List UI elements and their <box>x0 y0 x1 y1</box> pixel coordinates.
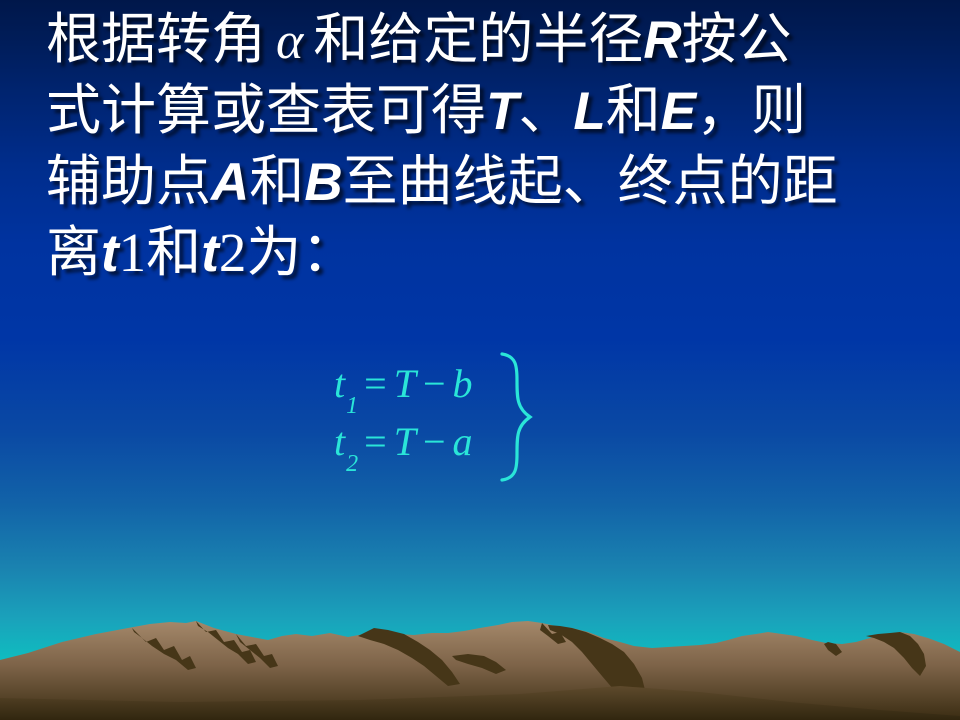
title-line-2-part-d: ，则 <box>696 80 806 141</box>
eq2-term-T: T <box>394 419 416 464</box>
eq2-equals-sign: = <box>357 419 394 464</box>
title-line-3-part-a: 辅助点 <box>46 151 211 212</box>
eq2-term-a: a <box>453 419 473 464</box>
variable-E: E <box>661 82 696 141</box>
title-line-4-part-a: 离 <box>46 222 101 283</box>
equation-row-2: t2=T−a <box>334 418 473 471</box>
alpha-symbol: α <box>266 13 313 70</box>
title-line-2: 式计算或查表可得T、L和E，则 <box>46 75 926 146</box>
title-line-3-part-b: 和 <box>249 151 304 212</box>
eq1-equals-sign: = <box>357 361 394 406</box>
right-curly-brace-icon <box>496 350 540 484</box>
title-line-2-part-b: 、 <box>518 80 573 141</box>
variable-T: T <box>486 82 518 141</box>
variable-t2: t <box>201 224 219 283</box>
title-line-4: 离t1和t2为： <box>46 217 926 288</box>
variable-L: L <box>573 82 605 141</box>
equation-group: t1=T−b t2=T−a <box>318 352 578 492</box>
eq1-subscript: 1 <box>346 393 358 419</box>
title-line-2-part-a: 式计算或查表可得 <box>46 80 486 141</box>
title-line-2-part-c: 和 <box>606 80 661 141</box>
mountain-silhouette-graphic <box>0 590 960 720</box>
eq2-minus-sign: − <box>416 419 453 464</box>
title-line-3-part-c: 至曲线起、终点的距 <box>343 151 838 212</box>
title-line-1-part-c: 按公 <box>682 9 792 70</box>
variable-A: A <box>211 153 249 212</box>
eq1-minus-sign: − <box>416 361 453 406</box>
equation-row-1: t1=T−b <box>334 360 473 413</box>
title-line-3: 辅助点A和B至曲线起、终点的距 <box>46 146 926 217</box>
title-line-4-part-b: 1和 <box>119 222 202 283</box>
title-line-1: 根据转角α和给定的半径R按公 <box>46 4 926 75</box>
eq2-left-variable: t <box>334 419 345 464</box>
eq1-term-T: T <box>394 361 416 406</box>
slide-title-text: 根据转角α和给定的半径R按公 式计算或查表可得T、L和E，则 辅助点A和B至曲线… <box>46 4 926 288</box>
presentation-slide: 根据转角α和给定的半径R按公 式计算或查表可得T、L和E，则 辅助点A和B至曲线… <box>0 0 960 720</box>
variable-R: R <box>643 11 681 70</box>
variable-B: B <box>304 153 342 212</box>
title-line-4-part-c: 2为： <box>219 222 357 283</box>
eq2-subscript: 2 <box>346 451 358 477</box>
eq1-left-variable: t <box>334 361 345 406</box>
title-line-1-part-a: 根据转角 <box>46 9 266 70</box>
eq1-term-b: b <box>453 361 473 406</box>
title-line-1-part-b: 和给定的半径 <box>313 9 643 70</box>
variable-t1: t <box>101 224 119 283</box>
